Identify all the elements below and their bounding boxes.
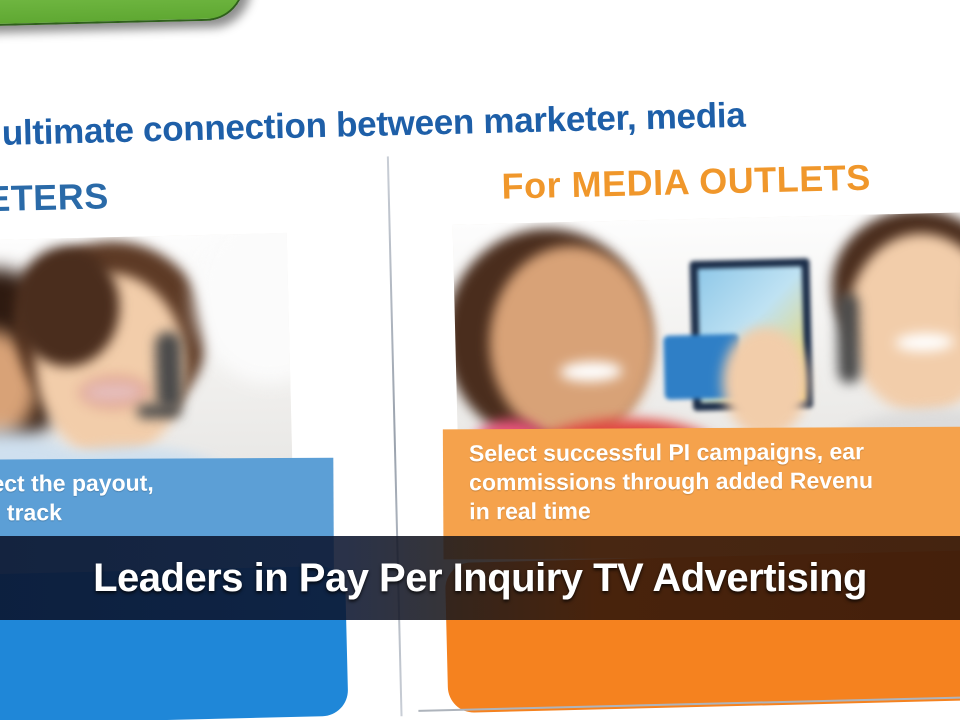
marketers-column: KETERS (0, 169, 374, 221)
overlay-banner: Leaders in Pay Per Inquiry TV Advertisin… (0, 536, 960, 620)
request-button[interactable]: EQUEST (0, 0, 245, 27)
media-outlets-callout-line1: Select successful PI campaigns, ear (469, 436, 960, 468)
marketers-heading: KETERS (0, 169, 374, 221)
tagline: he ultimate connection between marketer,… (0, 88, 960, 155)
slide-screenshot: EQUEST he ultimate connection between ma… (0, 0, 960, 720)
marketers-callout-line2: and track (0, 497, 320, 528)
marketers-callout-line1: select the payout, (0, 468, 320, 499)
overlay-banner-text: Leaders in Pay Per Inquiry TV Advertisin… (93, 556, 867, 601)
media-outlets-heading: For MEDIA OUTLETS (405, 153, 960, 210)
media-outlets-column: For MEDIA OUTLETS (405, 153, 960, 210)
media-outlets-callout-line3: in real time (469, 494, 960, 526)
media-outlets-callout-line2: commissions through added Revenu (469, 465, 960, 497)
marketers-photo (0, 233, 293, 491)
column-divider (387, 156, 403, 716)
